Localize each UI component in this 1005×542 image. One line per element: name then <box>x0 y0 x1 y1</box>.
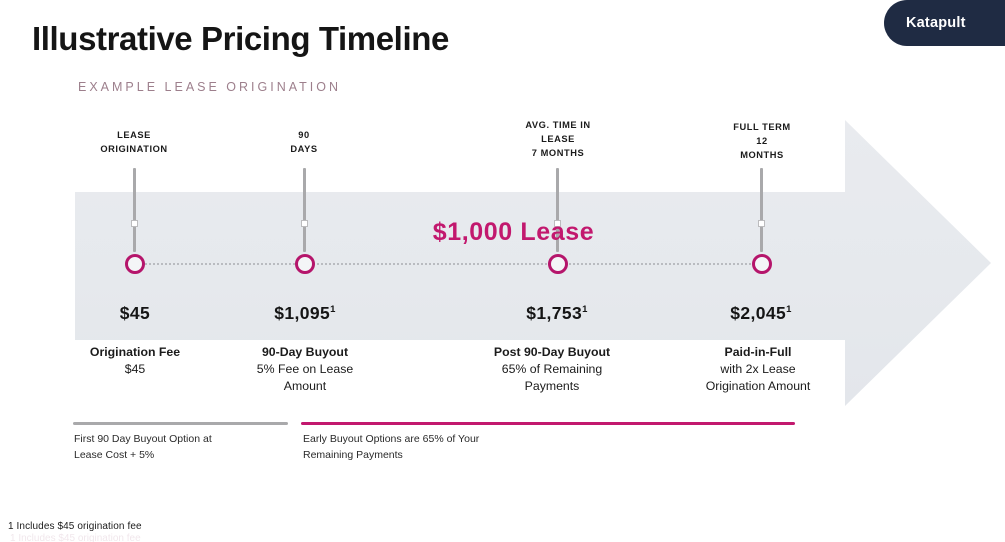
page-title: Illustrative Pricing Timeline <box>32 20 449 58</box>
milestone-heading-text: LEASE ORIGINATION <box>39 128 229 156</box>
footnote-text-ghost: 1 Includes $45 origination fee <box>10 533 141 542</box>
price-footnote-marker: 1 <box>582 304 588 315</box>
description-title: Post 90-Day Buyout <box>452 344 652 361</box>
timeline-marker-lease-origination[interactable] <box>125 254 145 274</box>
timeline-marker-avg-time-in-lease[interactable] <box>548 254 568 274</box>
annotation-text-first-90-day: First 90 Day Buyout Option at Lease Cost… <box>74 431 304 463</box>
brand-logo-pill: Katapult <box>884 0 1005 46</box>
description-body: 5% Fee on Lease Amount <box>205 361 405 395</box>
description-full-term: Paid-in-Full with 2x Lease Origination A… <box>658 344 858 395</box>
price-value: $2,045 <box>730 303 786 323</box>
price-footnote-marker: 1 <box>330 304 336 315</box>
timeline-marker-ninety-days[interactable] <box>295 254 315 274</box>
slide-canvas: Katapult Illustrative Pricing Timeline E… <box>0 0 1005 542</box>
price-ninety-days: $1,0951 <box>210 303 400 324</box>
description-body: 65% of Remaining Payments <box>452 361 652 395</box>
timeline-dotted-connector <box>130 263 770 265</box>
price-value: $45 <box>120 303 150 323</box>
milestone-heading-lease-origination: LEASE ORIGINATION <box>39 128 229 156</box>
annotation-bar-first-90-day <box>73 422 288 425</box>
description-title: Paid-in-Full <box>658 344 858 361</box>
price-footnote-marker: 1 <box>786 304 792 315</box>
annotation-text-early-buyout: Early Buyout Options are 65% of Your Rem… <box>303 431 633 463</box>
price-lease-origination: $45 <box>40 303 230 324</box>
milestone-heading-avg-time-in-lease: AVG. TIME IN LEASE 7 MONTHS <box>463 118 653 160</box>
annotation-bar-early-buyout <box>301 422 795 425</box>
price-full-term: $2,0451 <box>666 303 856 324</box>
milestone-heading-text: AVG. TIME IN LEASE 7 MONTHS <box>463 118 653 160</box>
milestone-heading-full-term: FULL TERM 12 MONTHS <box>667 120 857 162</box>
milestone-heading-text: 90 DAYS <box>209 128 399 156</box>
description-ninety-days: 90-Day Buyout 5% Fee on Lease Amount <box>205 344 405 395</box>
price-avg-time-in-lease: $1,7531 <box>462 303 652 324</box>
brand-logo-text: Katapult <box>906 15 966 31</box>
price-value: $1,753 <box>526 303 582 323</box>
lease-amount-headline: $1,000 Lease <box>0 218 1005 247</box>
milestone-heading-text: FULL TERM 12 MONTHS <box>667 120 857 162</box>
timeline-marker-full-term[interactable] <box>752 254 772 274</box>
milestone-heading-ninety-days: 90 DAYS <box>209 128 399 156</box>
description-avg-time-in-lease: Post 90-Day Buyout 65% of Remaining Paym… <box>452 344 652 395</box>
price-value: $1,095 <box>274 303 330 323</box>
description-title: 90-Day Buyout <box>205 344 405 361</box>
description-body: with 2x Lease Origination Amount <box>658 361 858 395</box>
footnote-text: 1 Includes $45 origination fee <box>8 521 142 532</box>
page-subtitle: EXAMPLE LEASE ORIGINATION <box>78 80 341 94</box>
